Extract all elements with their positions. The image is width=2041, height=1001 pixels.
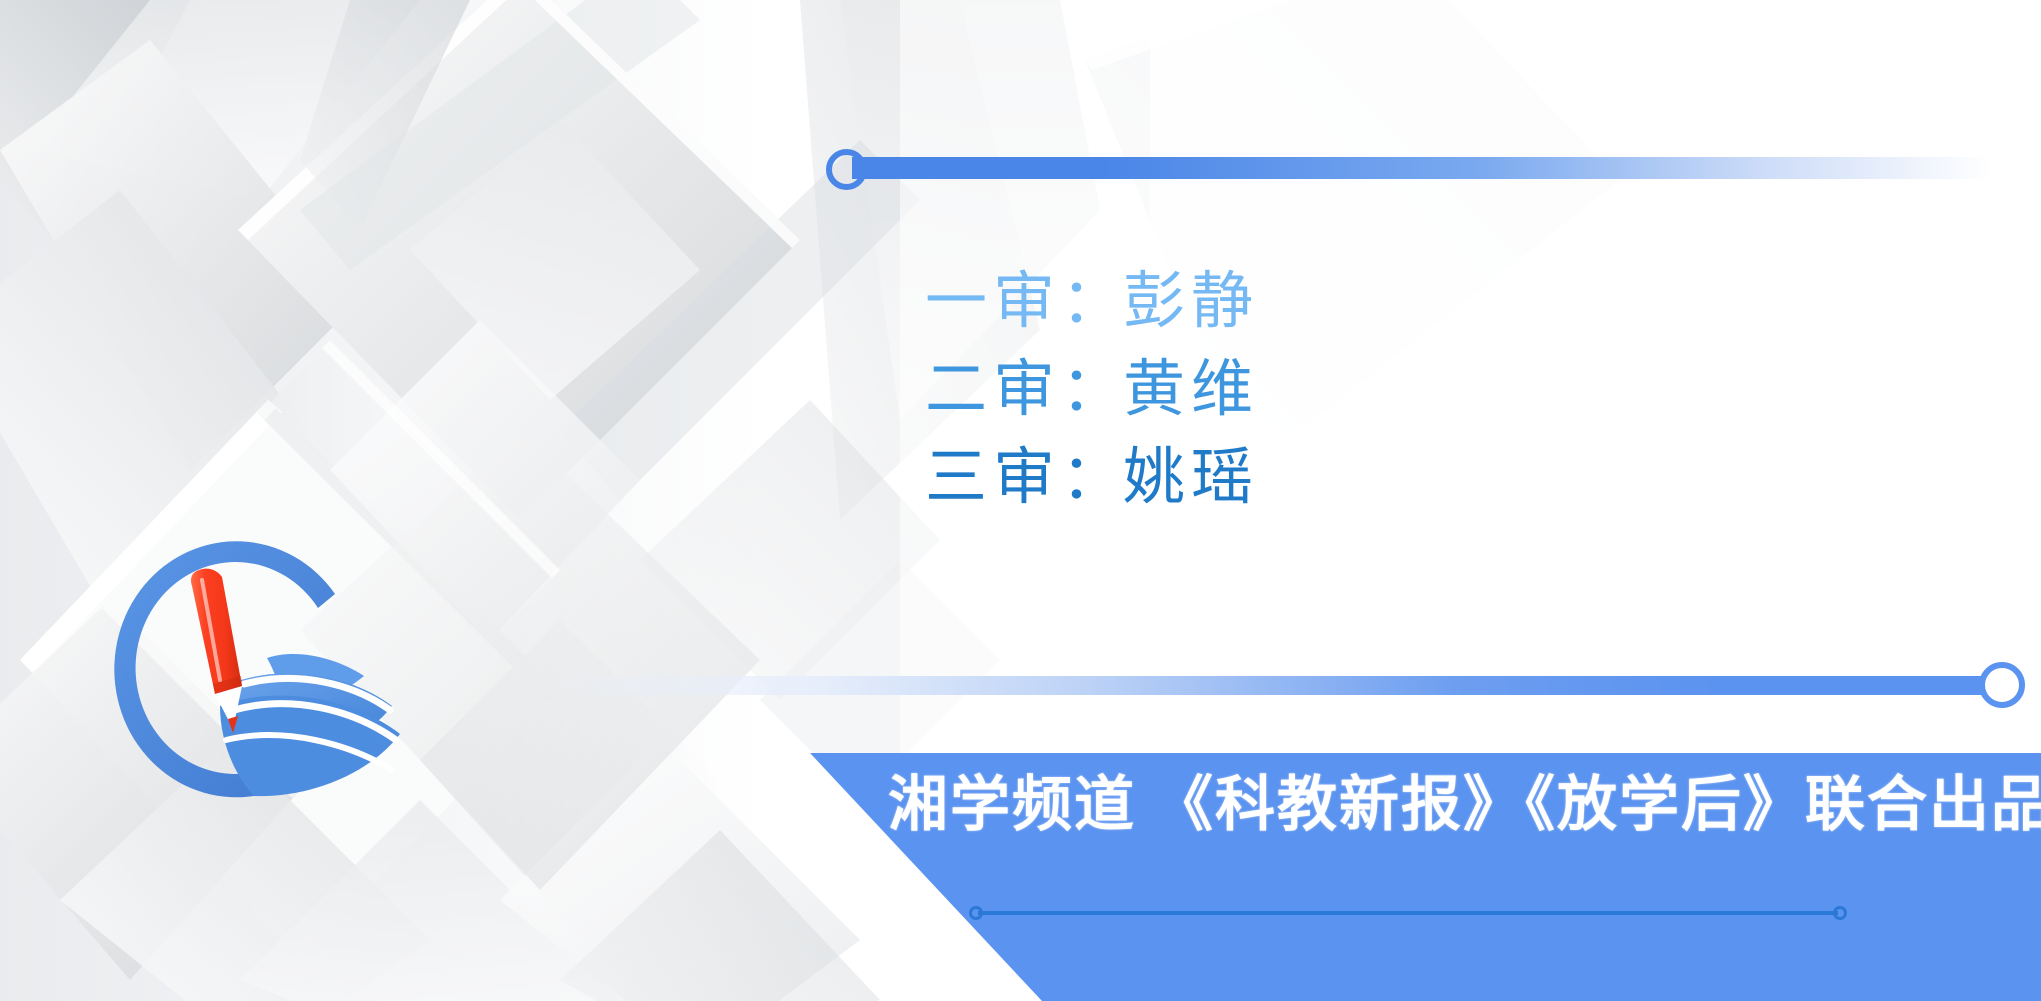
credit-name-3: 姚瑶: [1123, 443, 1259, 512]
credit-name-2: 黄维: [1123, 355, 1259, 424]
banner-underline-rule: [968, 905, 1848, 921]
credit-colon-3: ：: [1061, 443, 1123, 512]
credit-role-2: 二审: [925, 355, 1061, 424]
credit-role-1: 一审: [925, 267, 1061, 336]
credit-line-1: 一审：彭静: [925, 258, 1259, 346]
banner-title: 湘学频道 《科教新报》《放学后》联合出品: [888, 759, 2008, 851]
top-line-circle-icon: [826, 149, 867, 190]
top-decorative-line: [852, 157, 1992, 179]
credit-role-3: 三审: [925, 443, 1061, 512]
banner-underline-svg: [968, 905, 1848, 921]
credit-line-2: 二审：黄维: [925, 346, 1259, 434]
middle-line-circle-icon: [1979, 662, 2025, 708]
credit-colon-1: ：: [1061, 267, 1123, 336]
credit-line-3: 三审：姚瑶: [925, 434, 1259, 522]
middle-decorative-line: [555, 676, 2007, 695]
credits-block: 一审：彭静 二审：黄维 三审：姚瑶: [925, 258, 1259, 522]
logo-pencil-body: [191, 569, 242, 694]
credit-name-1: 彭静: [1123, 267, 1259, 336]
endcard-slide: 一审：彭静 二审：黄维 三审：姚瑶 湘学频道 《科教新报》《放学后》联合出品: [0, 0, 2041, 1001]
credit-colon-2: ：: [1061, 355, 1123, 424]
